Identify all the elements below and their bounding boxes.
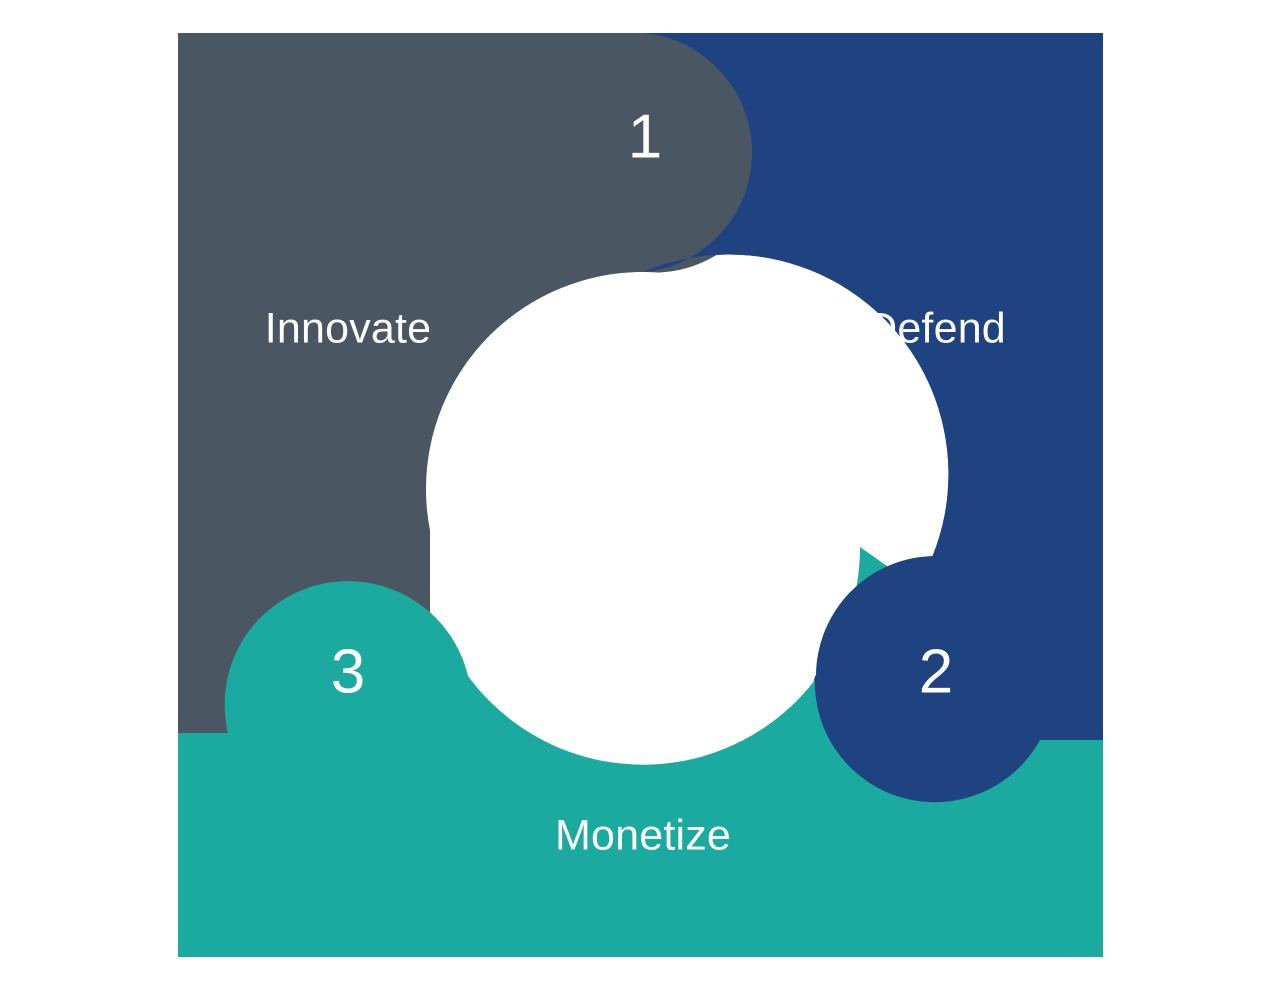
- three-segment-cycle-diagram: Innovate Defend Monetize 1 2 3: [0, 0, 1280, 996]
- segment-label-defend: Defend: [866, 304, 1006, 352]
- segment-label-monetize: Monetize: [555, 811, 731, 859]
- center-hub-circle: [426, 272, 860, 706]
- diagram-stage: Innovate Defend Monetize 1 2 3: [0, 0, 1280, 996]
- segment-number-3: 3: [331, 637, 365, 706]
- segment-number-1: 1: [628, 102, 662, 171]
- segment-label-innovate: Innovate: [265, 304, 432, 352]
- segment-number-2: 2: [919, 637, 953, 706]
